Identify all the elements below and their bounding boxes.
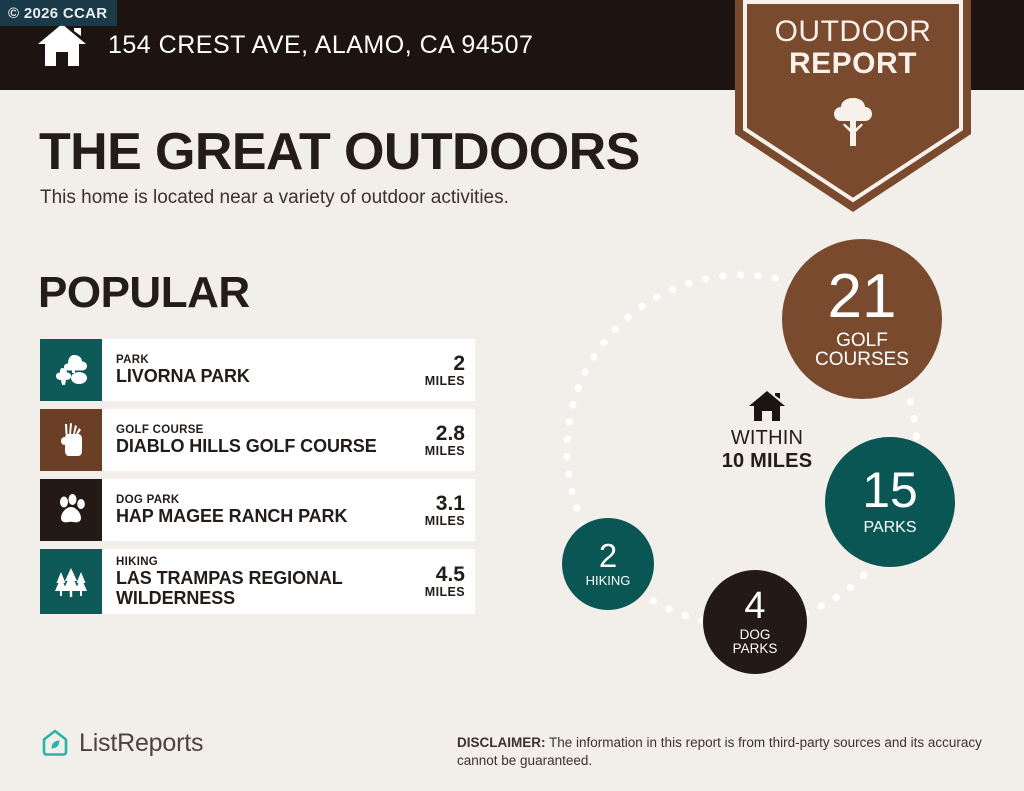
list-item-body: GOLF COURSE DIABLO HILLS GOLF COURSE 2.8… (102, 409, 475, 471)
center-line-1: WITHIN (692, 427, 842, 450)
bubble-label-line1: DOG (740, 628, 771, 642)
bubble-value: 15 (862, 467, 918, 515)
distance-unit: MILES (415, 585, 465, 599)
bubble-value: 4 (744, 588, 765, 624)
bubble-label-line1: GOLF (836, 331, 888, 351)
listreports-logo-icon (40, 728, 70, 758)
badge-text-block: OUTDOOR REPORT (735, 16, 971, 80)
listreports-brand[interactable]: ListReports (40, 728, 203, 758)
list-item-name: LIVORNA PARK (116, 367, 250, 386)
distance-value: 2.8 (415, 423, 465, 444)
pine-trees-icon (40, 549, 102, 614)
distance-value: 3.1 (415, 493, 465, 514)
home-icon (748, 390, 786, 423)
paw-print-icon (40, 479, 102, 541)
list-item-body: PARK LIVORNA PARK 2 MILES (102, 339, 475, 401)
list-item-category: HIKING (116, 555, 366, 569)
bubble-label-line1: HIKING (586, 574, 631, 588)
distance-value: 4.5 (415, 564, 465, 585)
list-item-name: LAS TRAMPAS REGIONAL WILDERNESS (116, 569, 366, 608)
page-subtitle: This home is located near a variety of o… (40, 187, 509, 209)
within-10-miles-bubble-chart: 21 GOLF COURSES 15 PARKS 4 DOG PARKS 2 H… (520, 215, 1024, 685)
golf-bag-icon (40, 409, 102, 471)
outdoor-report-page: 154 CREST AVE, ALAMO, CA 94507 © 2026 CC… (0, 0, 1024, 791)
bubble-value: 2 (599, 540, 617, 571)
list-item-body: HIKING LAS TRAMPAS REGIONAL WILDERNESS 4… (102, 549, 475, 614)
list-item-category: DOG PARK (116, 493, 347, 507)
home-icon (36, 22, 88, 68)
bubble-golf-courses[interactable]: 21 GOLF COURSES (782, 239, 942, 399)
center-line-2: 10 MILES (692, 450, 842, 473)
property-address: 154 CREST AVE, ALAMO, CA 94507 (108, 31, 533, 60)
copyright-watermark: © 2026 CCAR (0, 0, 117, 26)
list-item[interactable]: GOLF COURSE DIABLO HILLS GOLF COURSE 2.8… (40, 409, 475, 471)
outdoor-report-badge: OUTDOOR REPORT (735, 0, 971, 214)
list-item-name: HAP MAGEE RANCH PARK (116, 507, 347, 526)
bubble-label-line2: PARKS (733, 642, 778, 656)
park-tree-icon (40, 339, 102, 401)
list-item-distance: 4.5 MILES (409, 564, 465, 599)
section-title-popular: POPULAR (38, 268, 250, 318)
list-item-category: PARK (116, 353, 250, 367)
listreports-brand-text: ListReports (79, 729, 203, 758)
list-item-body: DOG PARK HAP MAGEE RANCH PARK 3.1 MILES (102, 479, 475, 541)
bubble-parks[interactable]: 15 PARKS (825, 437, 955, 567)
badge-line-2: REPORT (735, 48, 971, 80)
badge-line-1: OUTDOOR (735, 16, 971, 48)
list-item-name: DIABLO HILLS GOLF COURSE (116, 437, 377, 456)
bubble-value: 21 (828, 268, 897, 327)
list-item-distance: 2.8 MILES (409, 423, 465, 458)
distance-value: 2 (415, 353, 465, 374)
distance-unit: MILES (415, 444, 465, 458)
list-item-distance: 3.1 MILES (409, 493, 465, 528)
list-item[interactable]: HIKING LAS TRAMPAS REGIONAL WILDERNESS 4… (40, 549, 475, 614)
bubble-label-line1: PARKS (863, 520, 916, 537)
chart-center-label: WITHIN 10 MILES (692, 390, 842, 473)
list-item[interactable]: PARK LIVORNA PARK 2 MILES (40, 339, 475, 401)
list-item[interactable]: DOG PARK HAP MAGEE RANCH PARK 3.1 MILES (40, 479, 475, 541)
bubble-hiking[interactable]: 2 HIKING (562, 518, 654, 610)
disclaimer: DISCLAIMER: The information in this repo… (457, 734, 995, 770)
distance-unit: MILES (415, 514, 465, 528)
popular-places-list: PARK LIVORNA PARK 2 MILES (40, 339, 475, 622)
bubble-label-line2: COURSES (815, 350, 909, 370)
distance-unit: MILES (415, 374, 465, 388)
bubble-dog-parks[interactable]: 4 DOG PARKS (703, 570, 807, 674)
disclaimer-label: DISCLAIMER: (457, 735, 546, 750)
list-item-distance: 2 MILES (409, 353, 465, 388)
list-item-category: GOLF COURSE (116, 423, 377, 437)
page-title: THE GREAT OUTDOORS (39, 122, 640, 182)
